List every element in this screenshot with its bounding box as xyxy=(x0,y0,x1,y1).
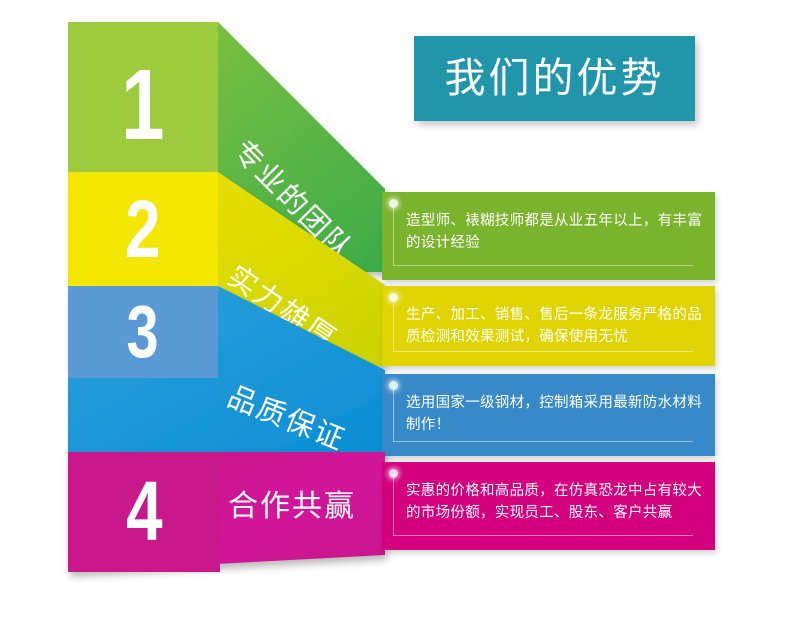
row-4-number: 4 xyxy=(126,469,162,553)
advantage-row-4: 4 合作共赢 实惠的价格和高品质，在仿真恐龙中占有较大的市场份额，实现员工、股东… xyxy=(0,0,800,622)
row-4-description: 实惠的价格和高品质，在仿真恐龙中占有较大的市场份额，实现员工、股东、客户共赢 xyxy=(406,480,706,525)
infographic-canvas: 我们的优势 1 专业的团队 xyxy=(0,0,800,622)
row-4-bracket-horizontal xyxy=(393,535,693,536)
row-4-number-block: 4 xyxy=(68,452,220,570)
row-4-description-card: 实惠的价格和高品质，在仿真恐龙中占有较大的市场份额，实现员工、股东、客户共赢 xyxy=(382,462,715,550)
row-4-label: 合作共赢 xyxy=(228,481,356,525)
row-4-bracket-vertical xyxy=(393,474,394,536)
